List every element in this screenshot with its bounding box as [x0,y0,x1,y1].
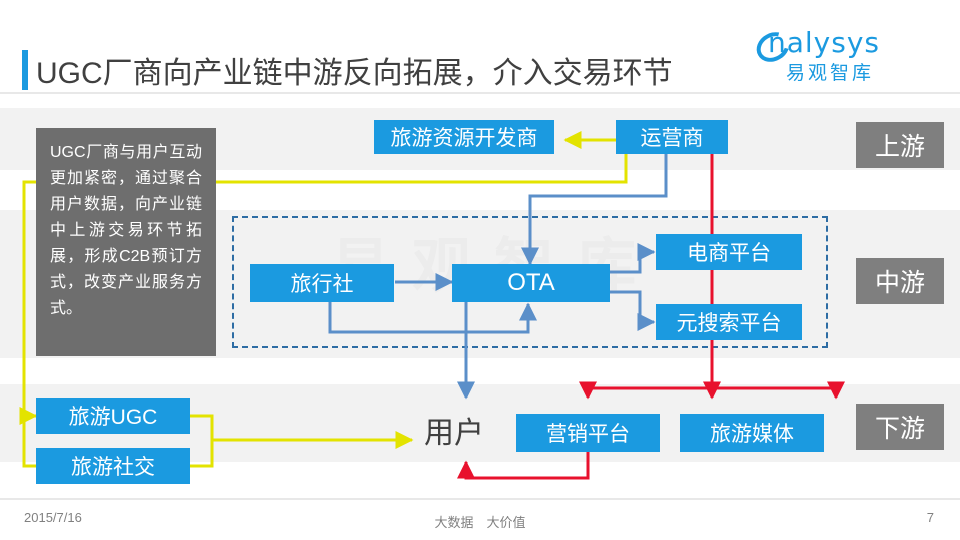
page-title: UGC厂商向产业链中游反向拓展，介入交易环节 [36,48,673,92]
footer-slogan: 大数据 大价值 [0,512,960,531]
tier-label-upstream: 上游 [856,122,944,168]
node-user: 用户 [424,408,484,452]
logo-wordmark: nalysys [768,26,880,59]
footer-page-number: 7 [927,510,934,525]
title-accent-bar [22,50,28,90]
slide-root: UGC厂商向产业链中游反向拓展，介入交易环节 nalysys 易观智库 易观智库 [0,0,960,540]
node-travel-media[interactable]: 旅游媒体 [680,414,824,452]
node-operator[interactable]: 运营商 [616,120,728,154]
node-marketing-platform[interactable]: 营销平台 [516,414,660,452]
node-resource-developer[interactable]: 旅游资源开发商 [374,120,554,154]
analysys-logo: nalysys 易观智库 [746,24,936,80]
node-travel-agency[interactable]: 旅行社 [250,264,394,302]
node-ota[interactable]: OTA [452,264,610,302]
footer-divider [0,498,960,500]
node-ecommerce-platform[interactable]: 电商平台 [656,234,802,270]
node-metasearch-platform[interactable]: 元搜索平台 [656,304,802,340]
header-divider [0,92,960,94]
tier-label-downstream: 下游 [856,404,944,450]
node-travel-ugc[interactable]: 旅游UGC [36,398,190,434]
note-box: UGC厂商与用户互动更加紧密，通过聚合用户数据，向产业链中上游交易环节拓展，形成… [36,128,216,356]
node-travel-social[interactable]: 旅游社交 [36,448,190,484]
logo-subtitle: 易观智库 [786,58,874,85]
tier-label-midstream: 中游 [856,258,944,304]
